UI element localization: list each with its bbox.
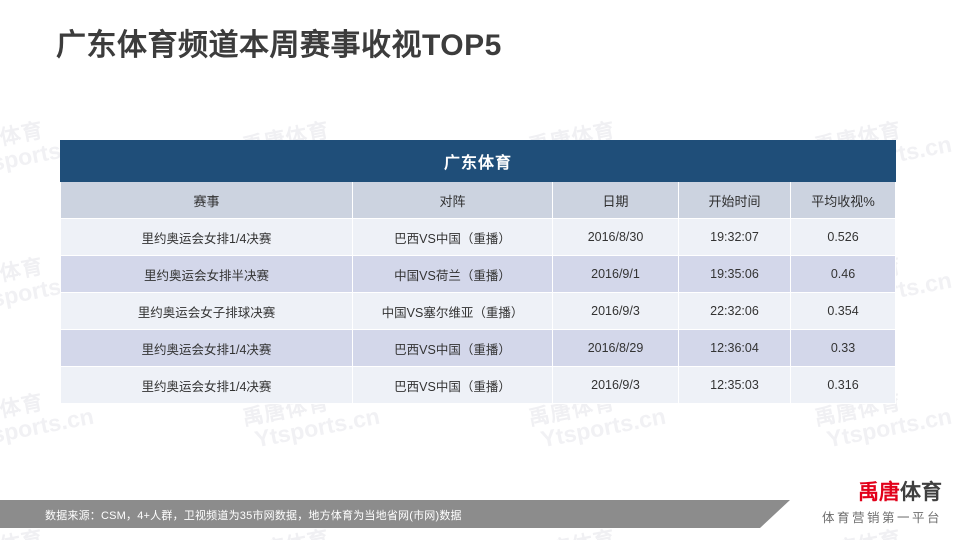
cell-date: 2016/9/3 — [553, 293, 679, 330]
table-row: 里约奥运会女排半决赛 中国VS荷兰（重播） 2016/9/1 19:35:06 … — [61, 256, 896, 293]
brand-tagline: 体育营销第一平台 — [822, 507, 942, 526]
cell-time: 19:32:07 — [679, 219, 791, 256]
cell-event: 里约奥运会女排半决赛 — [61, 256, 353, 293]
cell-date: 2016/9/1 — [553, 256, 679, 293]
cell-event: 里约奥运会女排1/4决赛 — [61, 367, 353, 404]
cell-time: 19:35:06 — [679, 256, 791, 293]
table-row: 里约奥运会女排1/4决赛 巴西VS中国（重播） 2016/8/29 12:36:… — [61, 330, 896, 367]
column-header-time: 开始时间 — [679, 182, 791, 219]
watermark-en-text: Ytsports.cn — [0, 403, 96, 454]
cell-rating: 0.33 — [791, 330, 896, 367]
data-source-note: 数据来源：CSM，4+人群，卫视频道为35市网数据，地方体育为当地省网(市网)数… — [45, 507, 462, 523]
cell-date: 2016/8/30 — [553, 219, 679, 256]
cell-rating: 0.354 — [791, 293, 896, 330]
cell-event: 里约奥运会女排1/4决赛 — [61, 330, 353, 367]
cell-rating: 0.46 — [791, 256, 896, 293]
cell-match: 巴西VS中国（重播） — [353, 367, 553, 404]
table-column-header-row: 赛事 对阵 日期 开始时间 平均收视% — [61, 182, 896, 219]
cell-time: 12:35:03 — [679, 367, 791, 404]
watermark-cn-text: 禹唐体育 — [0, 250, 46, 296]
cell-match: 巴西VS中国（重播） — [353, 219, 553, 256]
cell-rating: 0.526 — [791, 219, 896, 256]
page-title: 广东体育频道本周赛事收视TOP5 — [56, 20, 502, 64]
brand-logo: 禹唐体育 体育营销第一平台 — [822, 482, 942, 526]
table-header-title: 广东体育 — [61, 141, 896, 182]
table-row: 里约奥运会女排1/4决赛 巴西VS中国（重播） 2016/8/30 19:32:… — [61, 219, 896, 256]
cell-time: 12:36:04 — [679, 330, 791, 367]
cell-date: 2016/9/3 — [553, 367, 679, 404]
cell-event: 里约奥运会女子排球决赛 — [61, 293, 353, 330]
cell-match: 中国VS荷兰（重播） — [353, 256, 553, 293]
cell-rating: 0.316 — [791, 367, 896, 404]
brand-name-red: 禹唐 — [858, 481, 900, 504]
ratings-table: 广东体育 赛事 对阵 日期 开始时间 平均收视% 里约奥运会女排1/4决赛 巴西… — [60, 140, 896, 404]
brand-name: 禹唐体育 — [822, 482, 942, 504]
cell-time: 22:32:06 — [679, 293, 791, 330]
column-header-rating: 平均收视% — [791, 182, 896, 219]
watermark-en-text: Ytsports.cn — [825, 403, 954, 454]
column-header-date: 日期 — [553, 182, 679, 219]
table-title-row: 广东体育 — [61, 141, 896, 182]
watermark-en-text: Ytsports.cn — [539, 403, 668, 454]
table-row: 里约奥运会女排1/4决赛 巴西VS中国（重播） 2016/9/3 12:35:0… — [61, 367, 896, 404]
watermark-cn-text: 禹唐体育 — [0, 114, 46, 160]
cell-match: 巴西VS中国（重播） — [353, 330, 553, 367]
table-body: 里约奥运会女排1/4决赛 巴西VS中国（重播） 2016/8/30 19:32:… — [61, 219, 896, 404]
brand-name-dark: 体育 — [900, 481, 942, 504]
cell-date: 2016/8/29 — [553, 330, 679, 367]
cell-match: 中国VS塞尔维亚（重播） — [353, 293, 553, 330]
column-header-match: 对阵 — [353, 182, 553, 219]
table-row: 里约奥运会女子排球决赛 中国VS塞尔维亚（重播） 2016/9/3 22:32:… — [61, 293, 896, 330]
watermark-cn-text: 禹唐体育 — [0, 386, 46, 432]
cell-event: 里约奥运会女排1/4决赛 — [61, 219, 353, 256]
watermark-en-text: Ytsports.cn — [253, 403, 382, 454]
column-header-event: 赛事 — [61, 182, 353, 219]
